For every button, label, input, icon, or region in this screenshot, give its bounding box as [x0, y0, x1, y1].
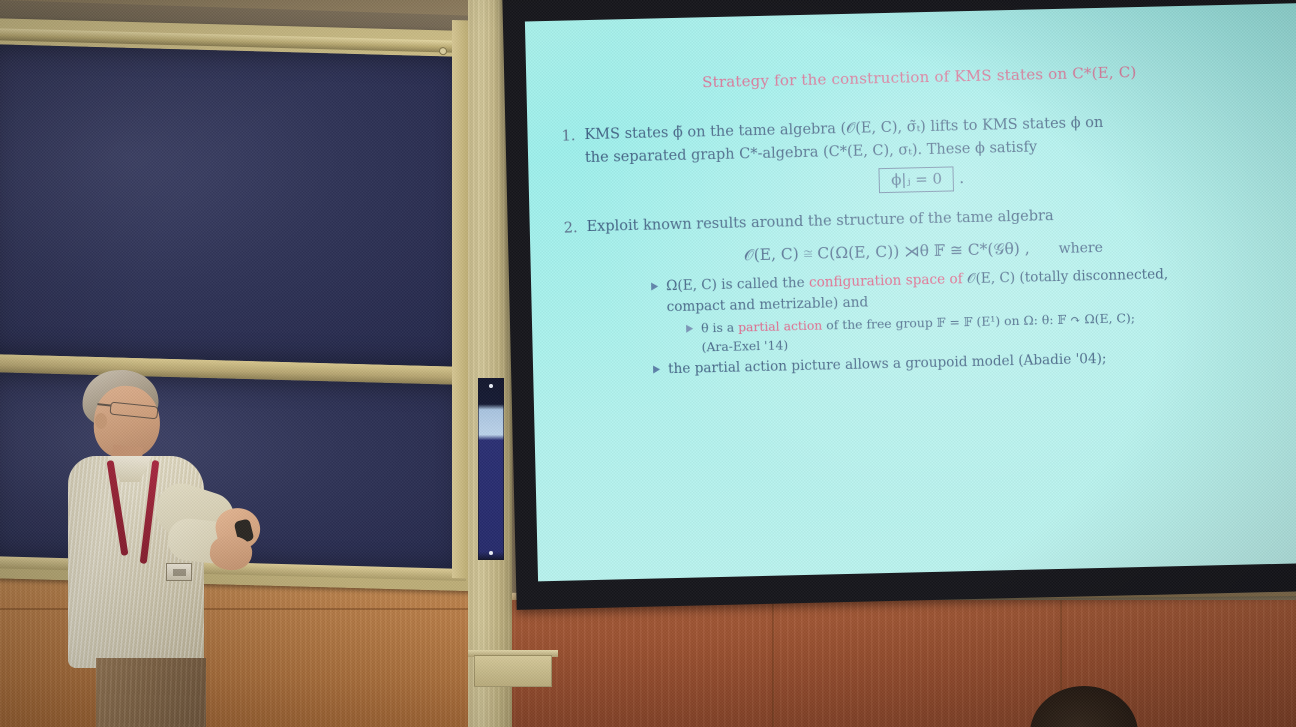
- bullet-highlight: partial action: [738, 317, 826, 334]
- wood-seam: [772, 600, 774, 727]
- slide-title: Strategy for the construction of KMS sta…: [560, 60, 1278, 95]
- conference-badge: [166, 563, 192, 581]
- bullet-post: of the free group 𝔽 = 𝔽 (E¹) on Ω: θ: 𝔽 …: [826, 310, 1135, 332]
- bullet-pre: Ω(E, C) is called the: [666, 275, 809, 294]
- item-number: 1.: [561, 124, 576, 171]
- item-line-2: the separated graph C*-algebra (C*(E, C)…: [585, 140, 1037, 167]
- bullet-line-2: (Ara-Exel '14): [701, 337, 788, 354]
- presentation-slide: Strategy for the construction of KMS sta…: [525, 3, 1296, 581]
- lecture-hall-photo: Strategy for the construction of KMS sta…: [0, 0, 1296, 727]
- boxed-formula-trailing: .: [959, 168, 965, 187]
- bullet-post: 𝒪(E, C) (totally disconnected,: [967, 267, 1169, 288]
- poster-pin-icon: [489, 551, 493, 555]
- boxed-formula: ϕ|ⱼ = 0: [879, 166, 954, 193]
- slide-numbered-item: 2. Exploit known results around the stru…: [563, 200, 1281, 241]
- triangle-bullet-icon: [686, 324, 693, 332]
- poster-pin-icon: [489, 384, 493, 388]
- bullet-pre: θ is a: [701, 319, 738, 335]
- item-number: 2.: [563, 216, 577, 241]
- pillar-panel: [474, 655, 552, 687]
- blackboard-knob: [439, 47, 447, 55]
- bullet-highlight: configuration space of: [809, 272, 967, 292]
- speaker: [60, 368, 275, 727]
- item-body: Exploit known results around the structu…: [586, 200, 1282, 241]
- projection-screen-surface: Strategy for the construction of KMS sta…: [525, 3, 1296, 581]
- display-equation: 𝒪(E, C) ≅ C(Ω(E, C)) ⋊θ 𝔽 ≅ C*(𝒢θ) ,: [744, 240, 1030, 265]
- triangle-bullet-icon: [651, 283, 658, 291]
- speaker-trousers: [96, 658, 206, 727]
- display-equation-suffix: where: [1058, 240, 1103, 257]
- wood-wall-right: [500, 600, 1296, 727]
- triangle-bullet-icon: [653, 366, 660, 374]
- projection-screen: Strategy for the construction of KMS sta…: [502, 0, 1296, 610]
- bullet-line-2: compact and metrizable) and: [666, 295, 868, 316]
- blackboard-upper-panel: [0, 44, 464, 367]
- speaker-ear: [95, 413, 107, 429]
- wall-poster: [478, 378, 504, 560]
